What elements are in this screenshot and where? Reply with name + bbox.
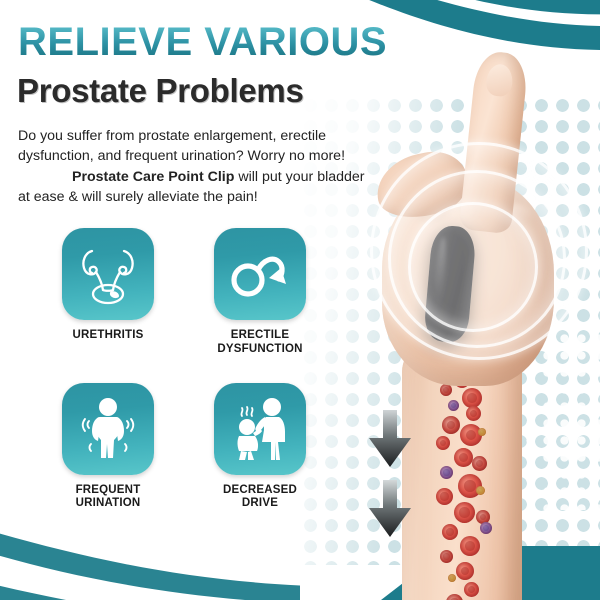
symptom-card-grid: URETHRITIS ERECTILE DYSFUNCTION bbox=[50, 228, 318, 511]
body-line-3-rest: will put your bladder bbox=[234, 169, 364, 185]
symptom-card-label: URETHRITIS bbox=[50, 329, 166, 343]
symptom-card-tile bbox=[214, 228, 306, 320]
symptom-card-erectile-dysfunction[interactable]: ERECTILE DYSFUNCTION bbox=[202, 228, 318, 365]
person-holding-bladder-icon bbox=[77, 396, 139, 462]
male-symbol-drooping-arrow-icon bbox=[229, 248, 291, 300]
down-arrow-icon bbox=[366, 480, 414, 538]
body-line-1: Do you suffer from prostate enlargement,… bbox=[18, 128, 326, 144]
symptom-card-label: FREQUENT URINATION bbox=[50, 484, 166, 511]
symptom-card-label-line2: DYSFUNCTION bbox=[217, 343, 302, 355]
symptom-card-label-line2: URINATION bbox=[76, 497, 141, 509]
symptom-card-tile bbox=[62, 228, 154, 320]
body-copy: Do you suffer from prostate enlargement,… bbox=[18, 126, 380, 208]
subheadline: Prostate Problems bbox=[17, 74, 304, 107]
symptom-card-label-line1: ERECTILE bbox=[231, 329, 289, 341]
down-arrow-icon bbox=[366, 410, 414, 468]
symptom-card-label-line2: DRIVE bbox=[242, 497, 278, 509]
symptom-card-label: ERECTILE DYSFUNCTION bbox=[202, 329, 318, 356]
product-advertisement-poster: RELIEVE VARIOUS RELIEVE VARIOUS Prostate… bbox=[0, 0, 600, 600]
symptom-card-label: DECREASED DRIVE bbox=[202, 484, 318, 511]
headline: RELIEVE VARIOUS bbox=[18, 22, 387, 62]
body-line-2: dysfunction, and frequent urination? Wor… bbox=[18, 148, 345, 164]
downward-arrow-group bbox=[366, 410, 414, 540]
symptom-card-row-top: URETHRITIS ERECTILE DYSFUNCTION bbox=[50, 228, 318, 365]
pulse-ring-inner bbox=[408, 202, 538, 332]
symptom-card-frequent-urination[interactable]: FREQUENT URINATION bbox=[50, 383, 166, 511]
blood-cell-stream bbox=[418, 370, 536, 600]
kidneys-bladder-icon bbox=[79, 243, 137, 305]
symptom-card-label-line1: FREQUENT bbox=[76, 484, 141, 496]
symptom-card-decreased-drive[interactable]: DECREASED DRIVE bbox=[202, 383, 318, 511]
fingernail bbox=[485, 63, 514, 98]
product-name: Prostate Care Point Clip bbox=[72, 169, 234, 185]
symptom-card-urethritis[interactable]: URETHRITIS bbox=[50, 228, 166, 365]
couple-low-libido-icon bbox=[228, 396, 292, 462]
symptom-card-tile bbox=[62, 383, 154, 475]
bottom-left-swoosh-decoration bbox=[0, 506, 300, 600]
symptom-card-tile bbox=[214, 383, 306, 475]
symptom-card-row-bottom: FREQUENT URINATION bbox=[50, 383, 318, 511]
body-line-4: at ease & will surely alleviate the pain… bbox=[18, 189, 258, 205]
symptom-card-label-line1: DECREASED bbox=[223, 484, 297, 496]
